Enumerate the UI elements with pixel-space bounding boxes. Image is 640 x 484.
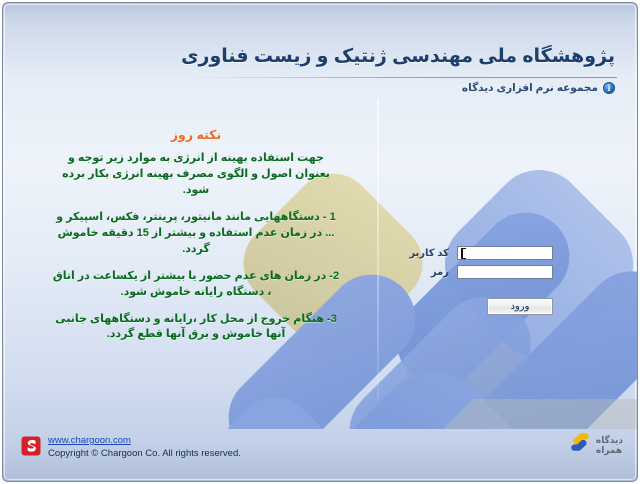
header-subtitle: مجموعه نرم افزاری دیدگاه (462, 82, 598, 94)
password-label: رمز (431, 267, 449, 278)
copyright-text: Copyright © Chargoon Co. All rights rese… (48, 447, 241, 460)
footer-brand-group: www.chargoon.com Copyright © Chargoon Co… (21, 435, 241, 460)
header: پژوهشگاه ملی مهندسی ژنتیک و زیست فناوری … (3, 3, 637, 107)
username-input[interactable] (460, 247, 550, 259)
footer-text-group: www.chargoon.com Copyright © Chargoon Co… (48, 435, 241, 460)
didgah-hamrah-logo: دیدگاه همراه (568, 431, 623, 458)
header-subtitle-group: مجموعه نرم افزاری دیدگاه (462, 82, 615, 94)
didgah-wordmark-line1: دیدگاه (596, 435, 623, 445)
chargoon-website-link[interactable]: www.chargoon.com (48, 435, 241, 447)
window-frame: پژوهشگاه ملی مهندسی ژنتیک و زیست فناوری … (2, 2, 638, 482)
tip-paragraph: 2- در زمان های عدم حضور یا بیشتر از یکسا… (51, 269, 341, 301)
page-title: پژوهشگاه ملی مهندسی ژنتیک و زیست فناوری (181, 45, 615, 68)
tip-of-the-day-panel: نکته روز جهت استفاده بهینه از انرژی به م… (51, 127, 341, 343)
username-row: کد کاربر (393, 246, 553, 260)
panel-divider (377, 99, 379, 399)
didgah-wordmark: دیدگاه همراه (596, 435, 623, 455)
username-field-wrap[interactable] (457, 246, 553, 260)
tip-title: نکته روز (51, 127, 341, 142)
didgah-wordmark-line2: همراه (596, 445, 622, 455)
chargoon-logo-icon (21, 436, 41, 456)
text-caret (461, 248, 466, 259)
tip-paragraph: جهت استفاده بهینه از انرژی به موارد زیر … (51, 151, 341, 199)
didgah-swirl-icon (568, 431, 592, 458)
tip-paragraph: 1 - دستگاههایی مانند مانیتور، پرینتر، فک… (51, 210, 341, 258)
info-icon[interactable] (603, 82, 615, 94)
username-label: کد کاربر (409, 248, 449, 259)
login-button[interactable]: ورود (487, 298, 553, 315)
login-form: کد کاربر رمز ورود (393, 246, 553, 315)
footer: www.chargoon.com Copyright © Chargoon Co… (3, 422, 638, 478)
login-page: پژوهشگاه ملی مهندسی ژنتیک و زیست فناوری … (0, 0, 640, 484)
password-row: رمز (393, 265, 553, 279)
submit-row: ورود (393, 296, 553, 315)
header-divider (189, 77, 617, 78)
tip-paragraph: 3- هنگام خروج از محل کار ،رایانه و دستگا… (51, 312, 341, 344)
password-field-wrap[interactable] (457, 265, 553, 279)
password-input[interactable] (460, 266, 550, 278)
